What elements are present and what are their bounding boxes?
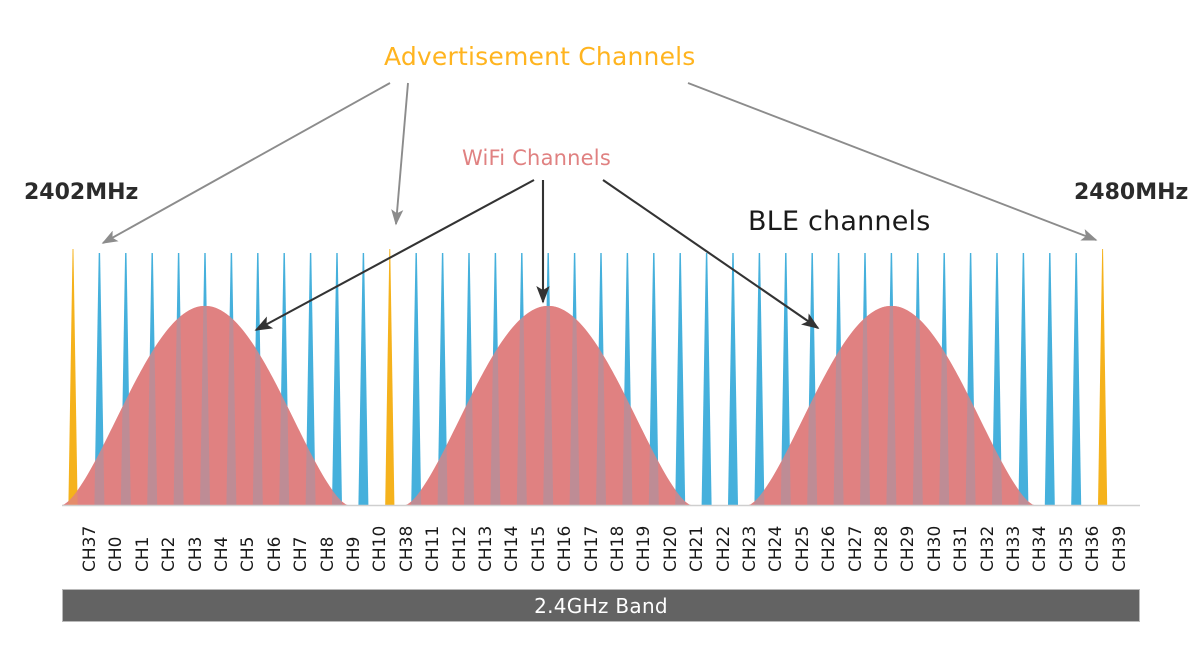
tick-label-ch10: CH10 <box>370 526 390 572</box>
tick-label-ch24: CH24 <box>766 526 786 572</box>
tick-label-ch16: CH16 <box>555 526 575 572</box>
channel-spike-ch9 <box>332 253 342 505</box>
tick-label-ch27: CH27 <box>846 526 866 572</box>
tick-label-ch34: CH34 <box>1030 526 1050 572</box>
channel-spike-ch37 <box>68 249 77 505</box>
arrow-advertisement-ch38 <box>396 83 408 224</box>
tick-label-ch39: CH39 <box>1110 526 1130 572</box>
tick-label-ch31: CH31 <box>951 526 971 572</box>
tick-label-ch11: CH11 <box>423 526 443 572</box>
tick-label-ch35: CH35 <box>1057 526 1077 572</box>
tick-label-ch23: CH23 <box>740 526 760 572</box>
tick-label-ch32: CH32 <box>978 526 998 572</box>
tick-label-ch2: CH2 <box>159 537 179 572</box>
tick-label-ch6: CH6 <box>265 537 285 572</box>
channel-spike-ch36 <box>1071 253 1081 505</box>
tick-label-ch4: CH4 <box>212 537 232 572</box>
channel-spike-ch10 <box>358 253 368 505</box>
tick-label-ch26: CH26 <box>819 526 839 572</box>
channel-spike-ch38 <box>385 249 394 505</box>
tick-label-ch5: CH5 <box>238 537 258 572</box>
tick-label-ch8: CH8 <box>318 537 338 572</box>
channel-spike-ch39 <box>1098 249 1107 505</box>
tick-label-ch1: CH1 <box>133 537 153 572</box>
channel-spike-ch23 <box>728 253 738 505</box>
tick-label-ch15: CH15 <box>529 526 549 572</box>
frequency-lower-bound-label: 2402MHz <box>24 180 138 205</box>
frequency-upper-bound-label: 2480MHz <box>1074 180 1188 205</box>
tick-label-ch0: CH0 <box>106 537 126 572</box>
tick-label-ch7: CH7 <box>291 537 311 572</box>
channel-spike-ch11 <box>411 253 421 505</box>
channel-spike-ch22 <box>702 253 712 505</box>
ble-spectrum-figure: Advertisement Channels WiFi Channels BLE… <box>0 0 1200 654</box>
tick-label-ch9: CH9 <box>344 537 364 572</box>
tick-label-ch29: CH29 <box>898 526 918 572</box>
arrow-wifi-channel-1 <box>256 180 534 330</box>
band-bar-label: 2.4GHz Band <box>534 594 668 618</box>
tick-label-ch36: CH36 <box>1083 526 1103 572</box>
tick-label-ch28: CH28 <box>872 526 892 572</box>
channel-spike-ch34 <box>1018 253 1028 505</box>
tick-label-ch25: CH25 <box>793 526 813 572</box>
band-bar: 2.4GHz Band <box>62 589 1140 622</box>
tick-label-ch18: CH18 <box>608 526 628 572</box>
wifi-channels-label: WiFi Channels <box>462 146 611 170</box>
wifi-hump-overlay-3 <box>749 306 1034 505</box>
tick-label-ch30: CH30 <box>925 526 945 572</box>
wifi-humps-overlay-layer <box>62 306 1034 505</box>
tick-label-ch33: CH33 <box>1004 526 1024 572</box>
tick-label-ch38: CH38 <box>397 526 417 572</box>
tick-label-ch20: CH20 <box>661 526 681 572</box>
tick-label-ch37: CH37 <box>80 526 100 572</box>
tick-label-ch3: CH3 <box>186 537 206 572</box>
tick-label-ch17: CH17 <box>582 526 602 572</box>
tick-label-ch21: CH21 <box>687 526 707 572</box>
tick-label-ch22: CH22 <box>714 526 734 572</box>
arrow-advertisement-ch37 <box>103 83 390 243</box>
ble-channels-label: BLE channels <box>748 206 931 237</box>
wifi-hump-overlay-1 <box>62 306 347 505</box>
tick-label-ch19: CH19 <box>634 526 654 572</box>
wifi-hump-overlay-2 <box>406 306 691 505</box>
tick-label-ch12: CH12 <box>450 526 470 572</box>
advertisement-channels-label: Advertisement Channels <box>384 42 696 71</box>
channel-spike-ch35 <box>1045 253 1055 505</box>
tick-label-ch14: CH14 <box>502 526 522 572</box>
channel-spike-ch21 <box>675 253 685 505</box>
tick-label-ch13: CH13 <box>476 526 496 572</box>
